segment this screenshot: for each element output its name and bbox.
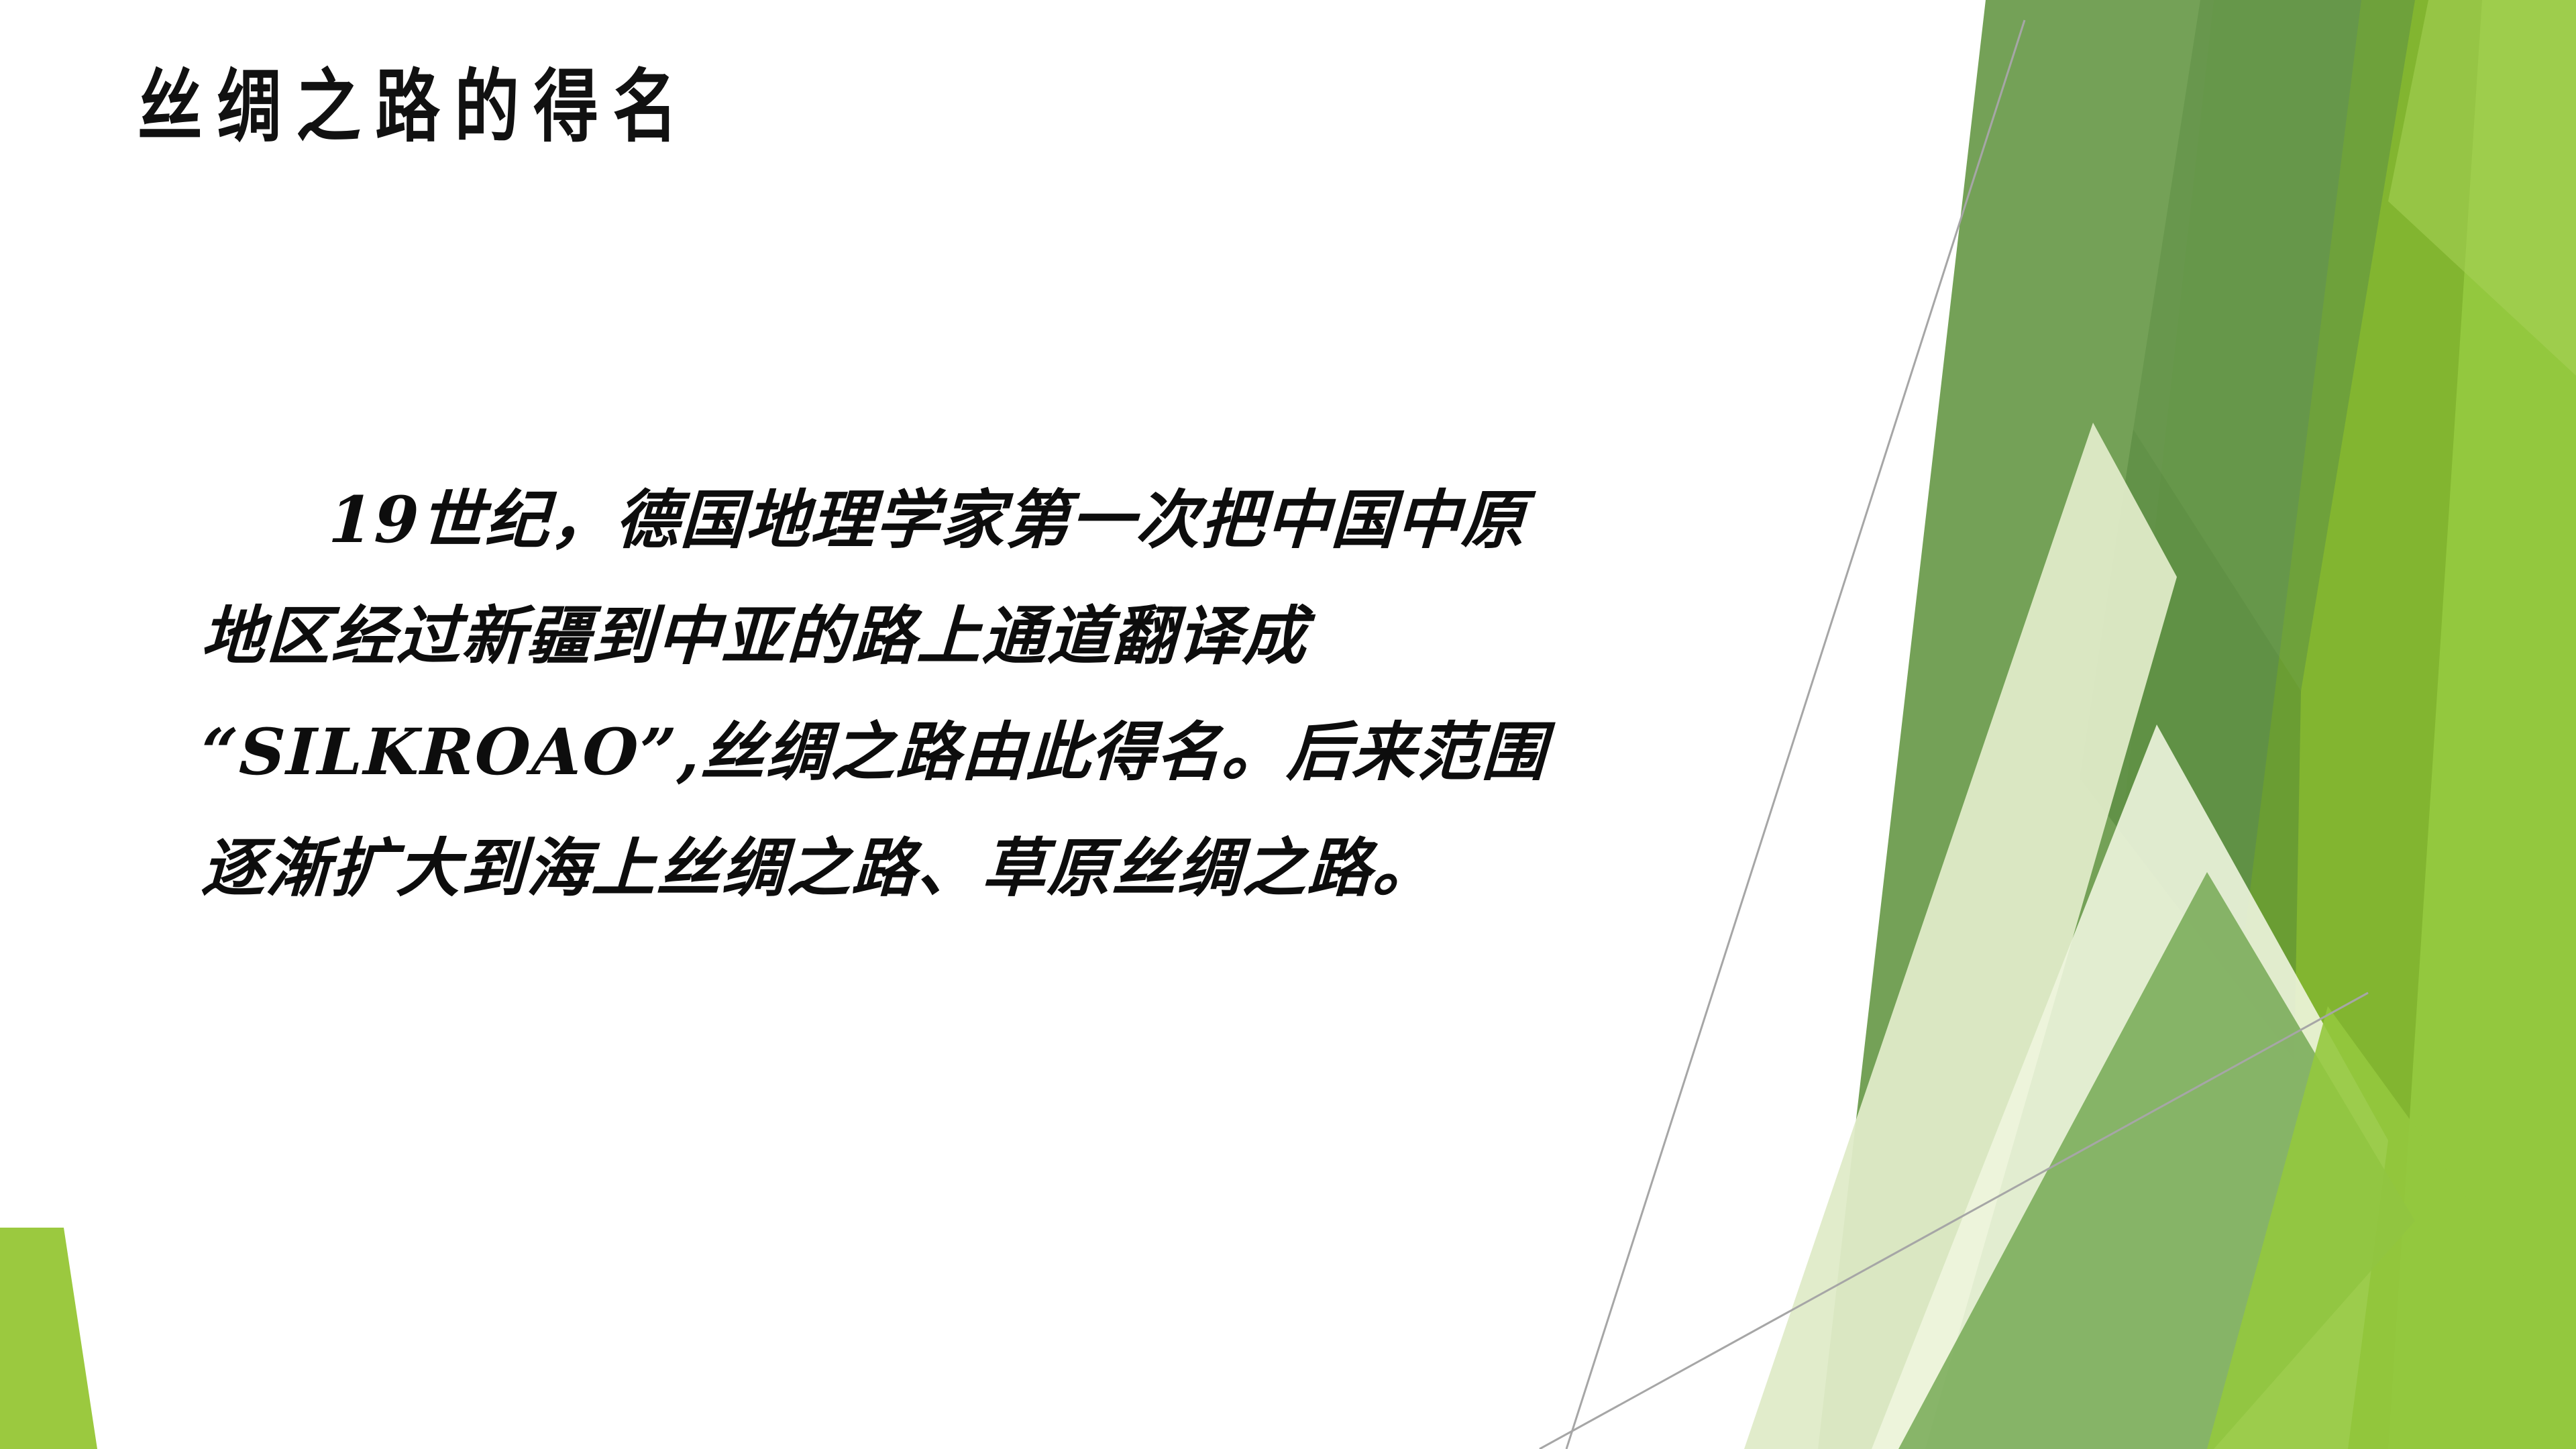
facet-shape-right-yellowgreen [2053,0,2482,1449]
facet-shape-right-bright [2093,0,2576,1449]
title-placeholder: 丝绸之路的得名 [138,64,1748,151]
facet-shape-light-top-edge [2388,0,2576,376]
facet-line-shallow-diagonal [1540,993,2368,1449]
facet-shape-bottom-left-triangle [0,1228,97,1449]
facet-shape-lower-bright-overlay [2207,1006,2576,1449]
facet-shape-dark-overlap-top [2133,0,2415,691]
page-title: 丝绸之路的得名 [138,64,1458,151]
body-paragraph-line-2: 地区经过新疆到中亚的路上通道翻译成 [199,579,1800,695]
body-paragraph-line-1: 19世纪，德国地理学家第一次把中国中原 [199,463,1800,579]
body-paragraph-line-4: 逐渐扩大到海上丝绸之路、草原丝绸之路。 [199,811,1800,927]
facet-shape-dark-chevron [2080,429,2301,1060]
facet-shape-verypale-wedge [1872,724,2388,1449]
facet-shape-midgreen-column [1818,0,2361,1449]
presentation-slide: 丝绸之路的得名 19世纪，德国地理学家第一次把中国中原 地区经过新疆到中亚的路上… [0,0,2576,1449]
body-paragraph-line-3: “SILKROAO”,丝绸之路由此得名。后来范围 [199,695,1800,811]
facet-shape-pale-sliver [1744,423,2177,1449]
facet-shape-lower-diagonal-band [1898,872,2415,1449]
body-placeholder: 19世纪，德国地理学家第一次把中国中原 地区经过新疆到中亚的路上通道翻译成 “S… [201,463,1798,927]
